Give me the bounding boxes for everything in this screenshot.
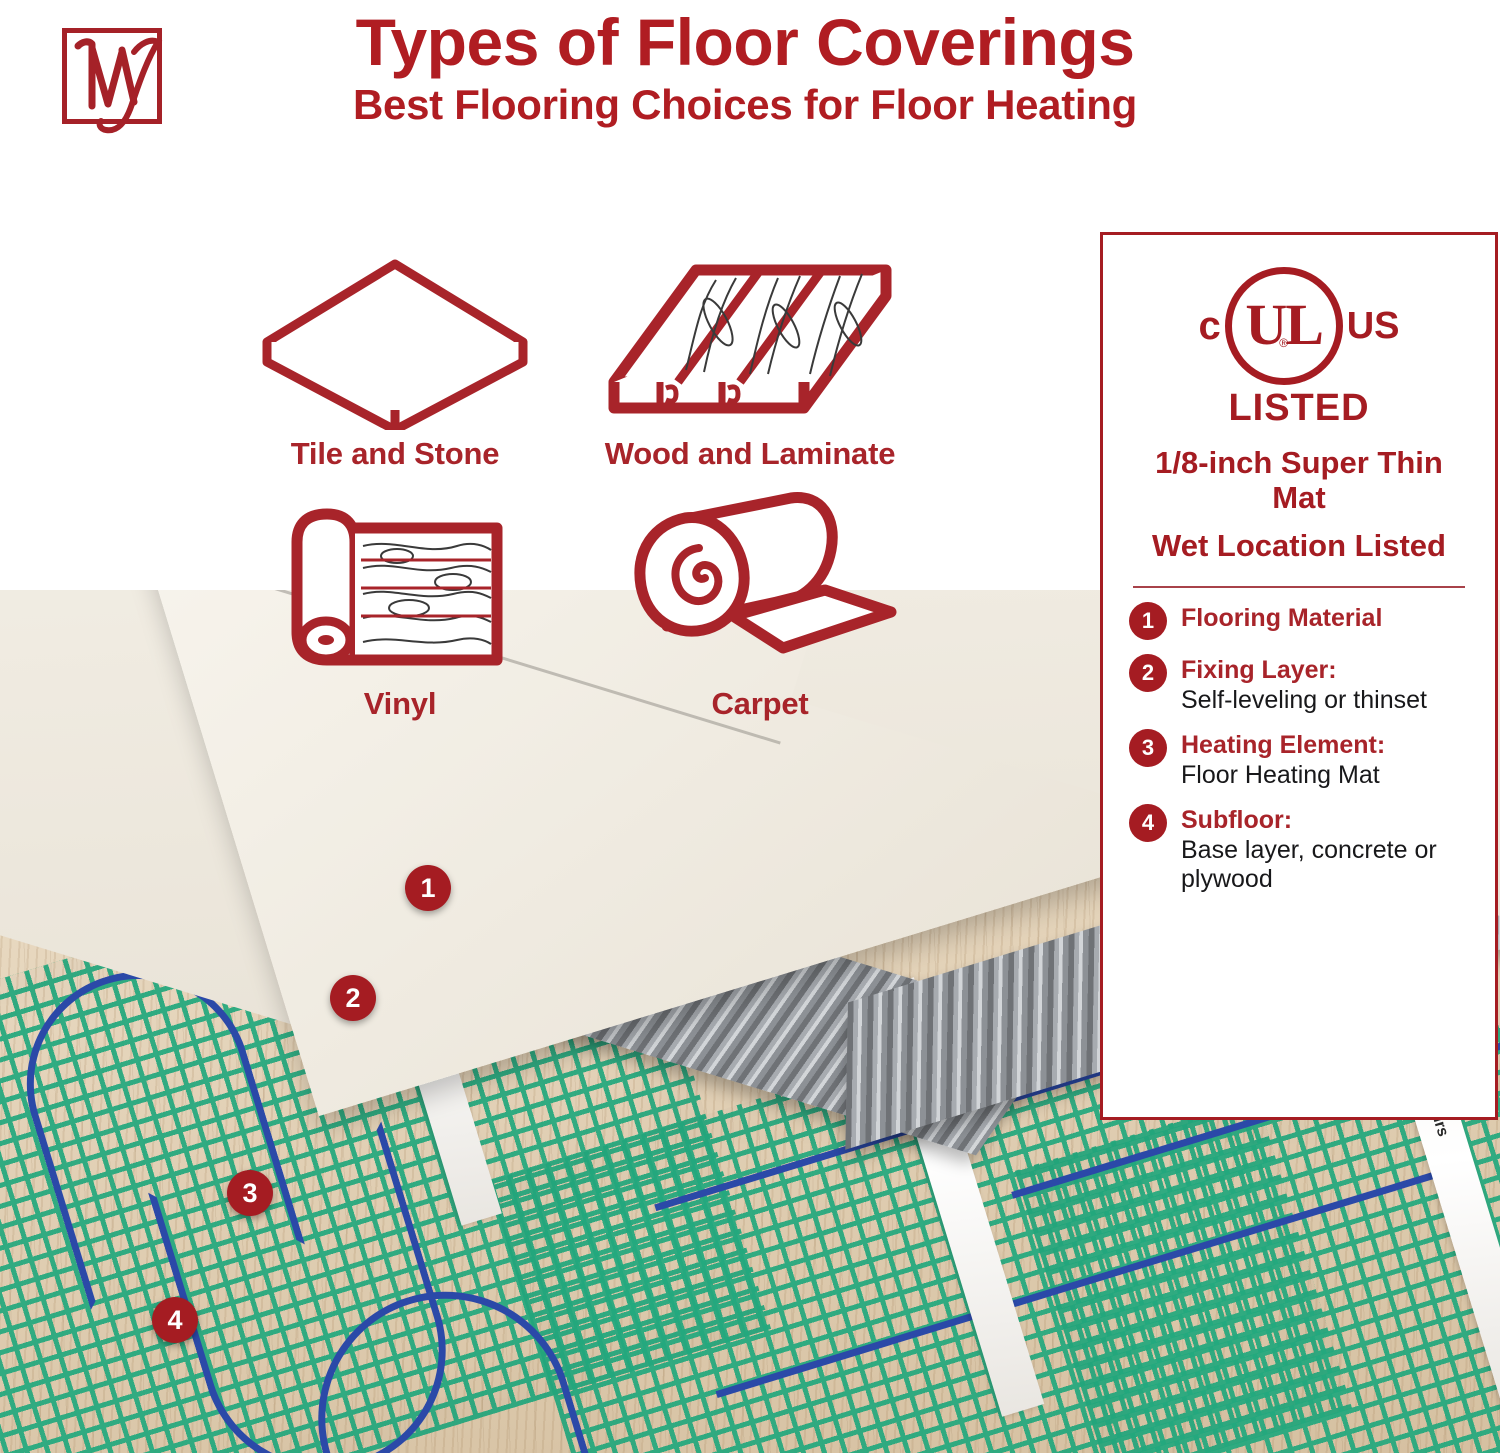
flooring-type-icons: Tile and Stone: [230, 250, 940, 770]
ul-registered-mark: ®: [1279, 336, 1288, 350]
legend-title: Fixing Layer:: [1181, 656, 1337, 684]
legend-description: Self-leveling or thinset: [1181, 686, 1427, 714]
legend-item-1: 1 Flooring Material: [1129, 602, 1469, 640]
flooring-type-carpet: Carpet: [580, 490, 940, 722]
page-title: Types of Floor Coverings: [180, 8, 1310, 77]
flooring-type-label: Wood and Laminate: [560, 436, 940, 472]
ul-c-label: c: [1198, 306, 1220, 346]
page-header: Types of Floor Coverings Best Flooring C…: [0, 0, 1500, 200]
legend-number: 4: [1129, 804, 1167, 842]
panel-divider: [1133, 586, 1465, 588]
legend-number: 1: [1129, 602, 1167, 640]
flooring-type-label: Vinyl: [240, 686, 560, 722]
legend-title: Heating Element:: [1181, 731, 1385, 759]
marker-4-subfloor: 4: [152, 1297, 198, 1343]
flooring-type-label: Tile and Stone: [230, 436, 560, 472]
title-block: Types of Floor Coverings Best Flooring C…: [180, 8, 1310, 127]
ul-us-label: US: [1347, 307, 1400, 345]
flooring-type-wood-and-laminate: Wood and Laminate: [560, 250, 940, 472]
legend-description: Floor Heating Mat: [1181, 761, 1380, 789]
legend-title: Flooring Material: [1181, 604, 1382, 632]
legend-text: Heating Element: Floor Heating Mat: [1181, 729, 1385, 790]
ul-listing-panel: c UL ® US LISTED 1/8-inch Super Thin Mat…: [1100, 232, 1498, 1120]
legend-text: Flooring Material: [1181, 602, 1382, 634]
marker-3-heating-element: 3: [227, 1170, 273, 1216]
legend-text: Subfloor: Base layer, concrete or plywoo…: [1181, 804, 1469, 895]
infographic-canvas: W WarmlyYours W WarmlyYours W WarmlyYour…: [0, 0, 1500, 1453]
legend-number: 3: [1129, 729, 1167, 767]
flooring-type-label: Carpet: [580, 686, 940, 722]
ul-listed-mark: c UL ® US LISTED: [1129, 267, 1469, 430]
wood-plank-icon: [600, 250, 900, 430]
panel-headline-wet-location: Wet Location Listed: [1129, 529, 1469, 564]
legend-number: 2: [1129, 654, 1167, 692]
tile-slab-icon: [255, 250, 535, 430]
warmlyyours-logo: [48, 18, 176, 136]
marker-2-fixing-layer: 2: [330, 975, 376, 1021]
flooring-type-tile-and-stone: Tile and Stone: [230, 250, 560, 472]
carpet-roll-icon: [615, 490, 905, 680]
legend-title: Subfloor:: [1181, 806, 1292, 834]
marker-1-flooring-material: 1: [405, 865, 451, 911]
vinyl-roll-icon: [285, 490, 515, 680]
legend-item-3: 3 Heating Element: Floor Heating Mat: [1129, 729, 1469, 790]
panel-headline-thin-mat: 1/8-inch Super Thin Mat: [1129, 446, 1469, 515]
legend-item-2: 2 Fixing Layer: Self-leveling or thinset: [1129, 654, 1469, 715]
page-subtitle: Best Flooring Choices for Floor Heating: [180, 83, 1310, 127]
legend-item-4: 4 Subfloor: Base layer, concrete or plyw…: [1129, 804, 1469, 895]
legend-description: Base layer, concrete or plywood: [1181, 836, 1437, 894]
ul-circle-icon: UL ®: [1225, 267, 1343, 385]
ul-listed-label: LISTED: [1228, 387, 1369, 430]
wy-monogram-icon: [48, 18, 176, 136]
legend-text: Fixing Layer: Self-leveling or thinset: [1181, 654, 1427, 715]
flooring-type-vinyl: Vinyl: [240, 490, 560, 722]
